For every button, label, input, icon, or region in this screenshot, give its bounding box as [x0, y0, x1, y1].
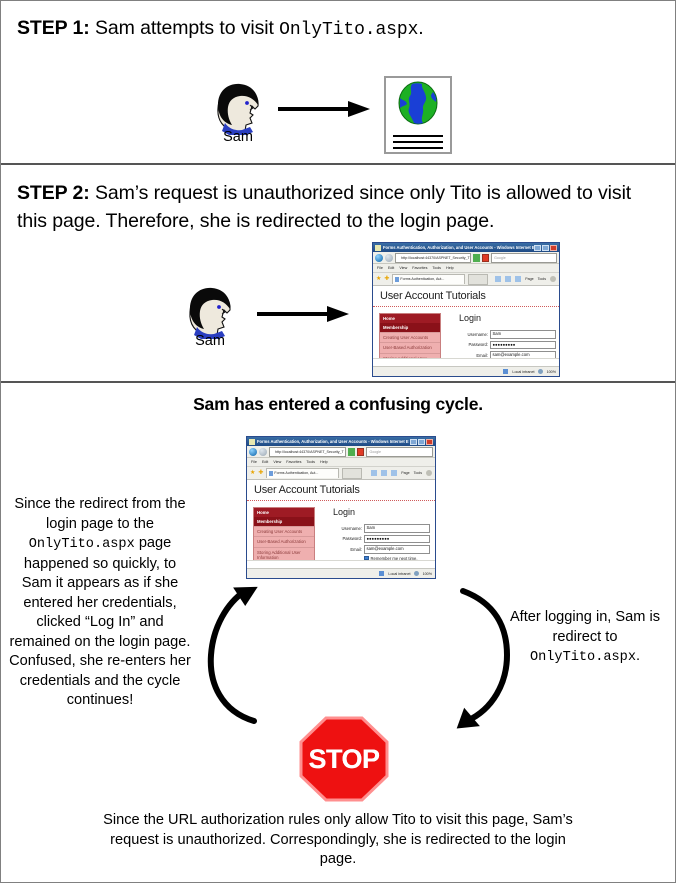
site-header: User Account Tutorials: [373, 286, 559, 307]
new-tab-button[interactable]: [342, 468, 362, 479]
sidebar-item-membership[interactable]: Membership: [380, 323, 440, 332]
cycle-right-code: OnlyTito.aspx: [530, 650, 636, 665]
stop-sign-icon: STOP: [299, 716, 389, 802]
browser-titlebar: Forms Authentication, Authorization, and…: [373, 243, 559, 252]
home-icon[interactable]: [371, 470, 377, 476]
menu-favorites[interactable]: Favorites: [412, 266, 427, 270]
password-input[interactable]: ●●●●●●●●●: [364, 535, 430, 544]
maximize-icon[interactable]: [542, 245, 549, 251]
refresh-icon[interactable]: [348, 448, 355, 456]
sidebar-item-home[interactable]: Home: [254, 508, 314, 517]
gear-icon[interactable]: [426, 470, 432, 476]
username-input[interactable]: Sam: [490, 330, 556, 339]
username-row: Username: Sam: [459, 330, 559, 339]
email-label: Email:: [333, 547, 364, 552]
browser-window-cycle[interactable]: Forms Authentication, Authorization, and…: [246, 436, 436, 579]
menu-help[interactable]: Help: [320, 460, 328, 464]
status-zoom[interactable]: 100%: [547, 370, 556, 374]
command-tools[interactable]: Tools: [414, 471, 422, 475]
window-controls[interactable]: [410, 439, 433, 445]
address-input[interactable]: http://localhost:44370/ASPNET_Security_T: [269, 447, 346, 457]
step-2-text: Sam’s request is unauthorized since only…: [17, 182, 631, 232]
avatar-label-sam: Sam: [205, 129, 271, 145]
page-text-line: [393, 141, 443, 143]
step-1-text-before: Sam attempts to visit: [90, 17, 280, 39]
browser-address-bar[interactable]: http://localhost:44370/ASPNET_Security_T…: [373, 252, 559, 264]
back-icon[interactable]: [375, 254, 383, 262]
arrow-step2: [257, 305, 349, 323]
favorites-star-icon[interactable]: ★: [376, 276, 381, 282]
diagram-container: STEP 1: Sam attempts to visit OnlyTito.a…: [0, 0, 676, 883]
search-input[interactable]: Google: [491, 253, 557, 263]
browser-menubar[interactable]: File Edit View Favorites Tools Help: [247, 458, 435, 467]
new-tab-button[interactable]: [468, 274, 488, 285]
menu-file[interactable]: File: [251, 460, 257, 464]
page-text-line: [393, 147, 443, 149]
add-favorite-icon[interactable]: ✚: [384, 276, 389, 282]
sidebar-item-user-based-authorization[interactable]: User-Based Authorization: [254, 536, 314, 546]
menu-edit[interactable]: Edit: [262, 460, 268, 464]
maximize-icon[interactable]: [418, 439, 425, 445]
avatar-sam-step2: Sam: [177, 283, 243, 355]
panel-cycle: Sam has entered a confusing cycle. Forms…: [1, 383, 675, 882]
cycle-right-text: After logging in, Sam is redirect to Onl…: [499, 608, 671, 668]
window-controls[interactable]: [534, 245, 557, 251]
menu-help[interactable]: Help: [446, 266, 454, 270]
page-text-line: [393, 135, 443, 137]
person-icon: [205, 79, 271, 135]
forward-icon[interactable]: [385, 254, 393, 262]
menu-view[interactable]: View: [399, 266, 407, 270]
username-row: Username: Sam: [333, 524, 435, 533]
stop-loading-icon[interactable]: [357, 448, 364, 456]
command-page[interactable]: Page: [401, 471, 409, 475]
zoom-icon[interactable]: [538, 369, 543, 374]
browser-titlebar: Forms Authentication, Authorization, and…: [247, 437, 435, 446]
browser-title: Forms Authentication, Authorization, and…: [383, 243, 534, 252]
sidebar-item-home[interactable]: Home: [380, 314, 440, 323]
password-label: Password:: [459, 342, 490, 347]
forward-icon[interactable]: [259, 448, 267, 456]
cycle-left-text-1: Since the redirect from the login page t…: [14, 496, 185, 532]
browser-tabbar[interactable]: ★ ✚ Forms Authentication, Aut... Page To…: [373, 273, 559, 286]
print-icon[interactable]: [515, 276, 521, 282]
browser-tabbar[interactable]: ★ ✚ Forms Authentication, Aut... Page To…: [247, 467, 435, 480]
sidebar-item-creating-user-accounts[interactable]: Creating User Accounts: [254, 526, 314, 536]
stop-loading-icon[interactable]: [482, 254, 489, 262]
step-1-label: STEP 1:: [17, 17, 90, 39]
browser-favicon: [249, 439, 255, 445]
menu-tools[interactable]: Tools: [306, 460, 315, 464]
home-icon[interactable]: [495, 276, 501, 282]
cycle-left-text: Since the redirect from the login page t…: [9, 495, 191, 711]
step-1-text-after: .: [418, 17, 423, 39]
cycle-left-text-2: page happened so quickly, to Sam it appe…: [9, 535, 191, 708]
minimize-icon[interactable]: [534, 245, 541, 251]
panel-step-2: STEP 2: Sam’s request is unauthorized si…: [1, 165, 675, 383]
browser-menubar[interactable]: File Edit View Favorites Tools Help: [373, 264, 559, 273]
email-row: Email: sam@example.com: [333, 545, 435, 554]
security-zone-icon: [379, 571, 384, 576]
browser-command-bar[interactable]: Page Tools: [371, 470, 432, 476]
add-favorite-icon[interactable]: ✚: [258, 470, 263, 476]
address-input[interactable]: http://localhost:44370/ASPNET_Security_T: [395, 253, 471, 263]
username-input[interactable]: Sam: [364, 524, 430, 533]
web-page-icon: [384, 76, 452, 154]
person-icon: [177, 283, 243, 339]
feeds-icon[interactable]: [505, 276, 511, 282]
username-label: Username:: [333, 526, 364, 531]
print-icon[interactable]: [391, 470, 397, 476]
password-label: Password:: [333, 536, 364, 541]
username-label: Username:: [459, 332, 490, 337]
status-zone: Local intranet: [512, 370, 534, 374]
back-icon[interactable]: [249, 448, 257, 456]
sidebar-item-user-based-authorization[interactable]: User-Based Authorization: [380, 342, 440, 352]
avatar-sam-step1: Sam: [205, 79, 271, 151]
browser-address-bar[interactable]: http://localhost:44370/ASPNET_Security_T…: [247, 446, 435, 458]
cycle-arrow-left: [197, 571, 307, 731]
browser-tab[interactable]: Forms Authentication, Aut...: [392, 274, 465, 284]
arrow-step1: [278, 100, 370, 118]
login-heading: Login: [459, 313, 559, 323]
close-icon[interactable]: [550, 245, 557, 251]
menu-edit[interactable]: Edit: [388, 266, 394, 270]
step-2-heading: STEP 2: Sam’s request is unauthorized si…: [17, 179, 659, 235]
command-page[interactable]: Page: [525, 277, 533, 281]
panel-step-1: STEP 1: Sam attempts to visit OnlyTito.a…: [1, 1, 675, 165]
cycle-title: Sam has entered a confusing cycle.: [1, 394, 675, 415]
step-2-label: STEP 2:: [17, 182, 90, 204]
menu-file[interactable]: File: [377, 266, 383, 270]
email-input[interactable]: sam@example.com: [364, 545, 430, 554]
browser-favicon: [375, 245, 381, 251]
minimize-icon[interactable]: [410, 439, 417, 445]
menu-tools[interactable]: Tools: [432, 266, 441, 270]
step-1-code: OnlyTito.aspx: [279, 20, 418, 40]
login-heading: Login: [333, 507, 435, 517]
close-icon[interactable]: [426, 439, 433, 445]
password-input[interactable]: ●●●●●●●●●: [490, 341, 556, 350]
stop-sign-label: STOP: [299, 716, 389, 802]
cycle-right-text-2: .: [636, 648, 640, 664]
command-tools[interactable]: Tools: [538, 277, 546, 281]
browser-statusbar: Local intranet 100%: [373, 366, 559, 376]
email-label: Email:: [459, 353, 490, 358]
site-header: User Account Tutorials: [247, 480, 435, 501]
cycle-left-code: OnlyTito.aspx: [29, 537, 135, 552]
browser-window-step2[interactable]: Forms Authentication, Authorization, and…: [372, 242, 560, 377]
step-1-heading: STEP 1: Sam attempts to visit OnlyTito.a…: [17, 15, 659, 44]
refresh-icon[interactable]: [473, 254, 480, 262]
browser-tab[interactable]: Forms Authentication, Aut...: [266, 468, 339, 478]
menu-favorites[interactable]: Favorites: [286, 460, 301, 464]
sidebar-item-membership[interactable]: Membership: [254, 517, 314, 526]
password-row: Password: ●●●●●●●●●: [459, 341, 559, 350]
browser-command-bar[interactable]: Page Tools: [495, 276, 556, 282]
feeds-icon[interactable]: [381, 470, 387, 476]
sidebar-item-creating-user-accounts[interactable]: Creating User Accounts: [380, 332, 440, 342]
cycle-right-text-1: After logging in, Sam is redirect to: [510, 609, 660, 645]
favorites-star-icon[interactable]: ★: [250, 470, 255, 476]
search-input[interactable]: Google: [366, 447, 433, 457]
password-row: Password: ●●●●●●●●●: [333, 535, 435, 544]
browser-title: Forms Authentication, Authorization, and…: [257, 437, 410, 446]
status-zone: Local intranet: [388, 572, 410, 576]
gear-icon[interactable]: [550, 276, 556, 282]
avatar-label-sam: Sam: [177, 333, 243, 349]
security-zone-icon: [503, 369, 508, 374]
menu-view[interactable]: View: [273, 460, 281, 464]
cycle-bottom-caption: Since the URL authorization rules only a…: [1, 811, 675, 870]
